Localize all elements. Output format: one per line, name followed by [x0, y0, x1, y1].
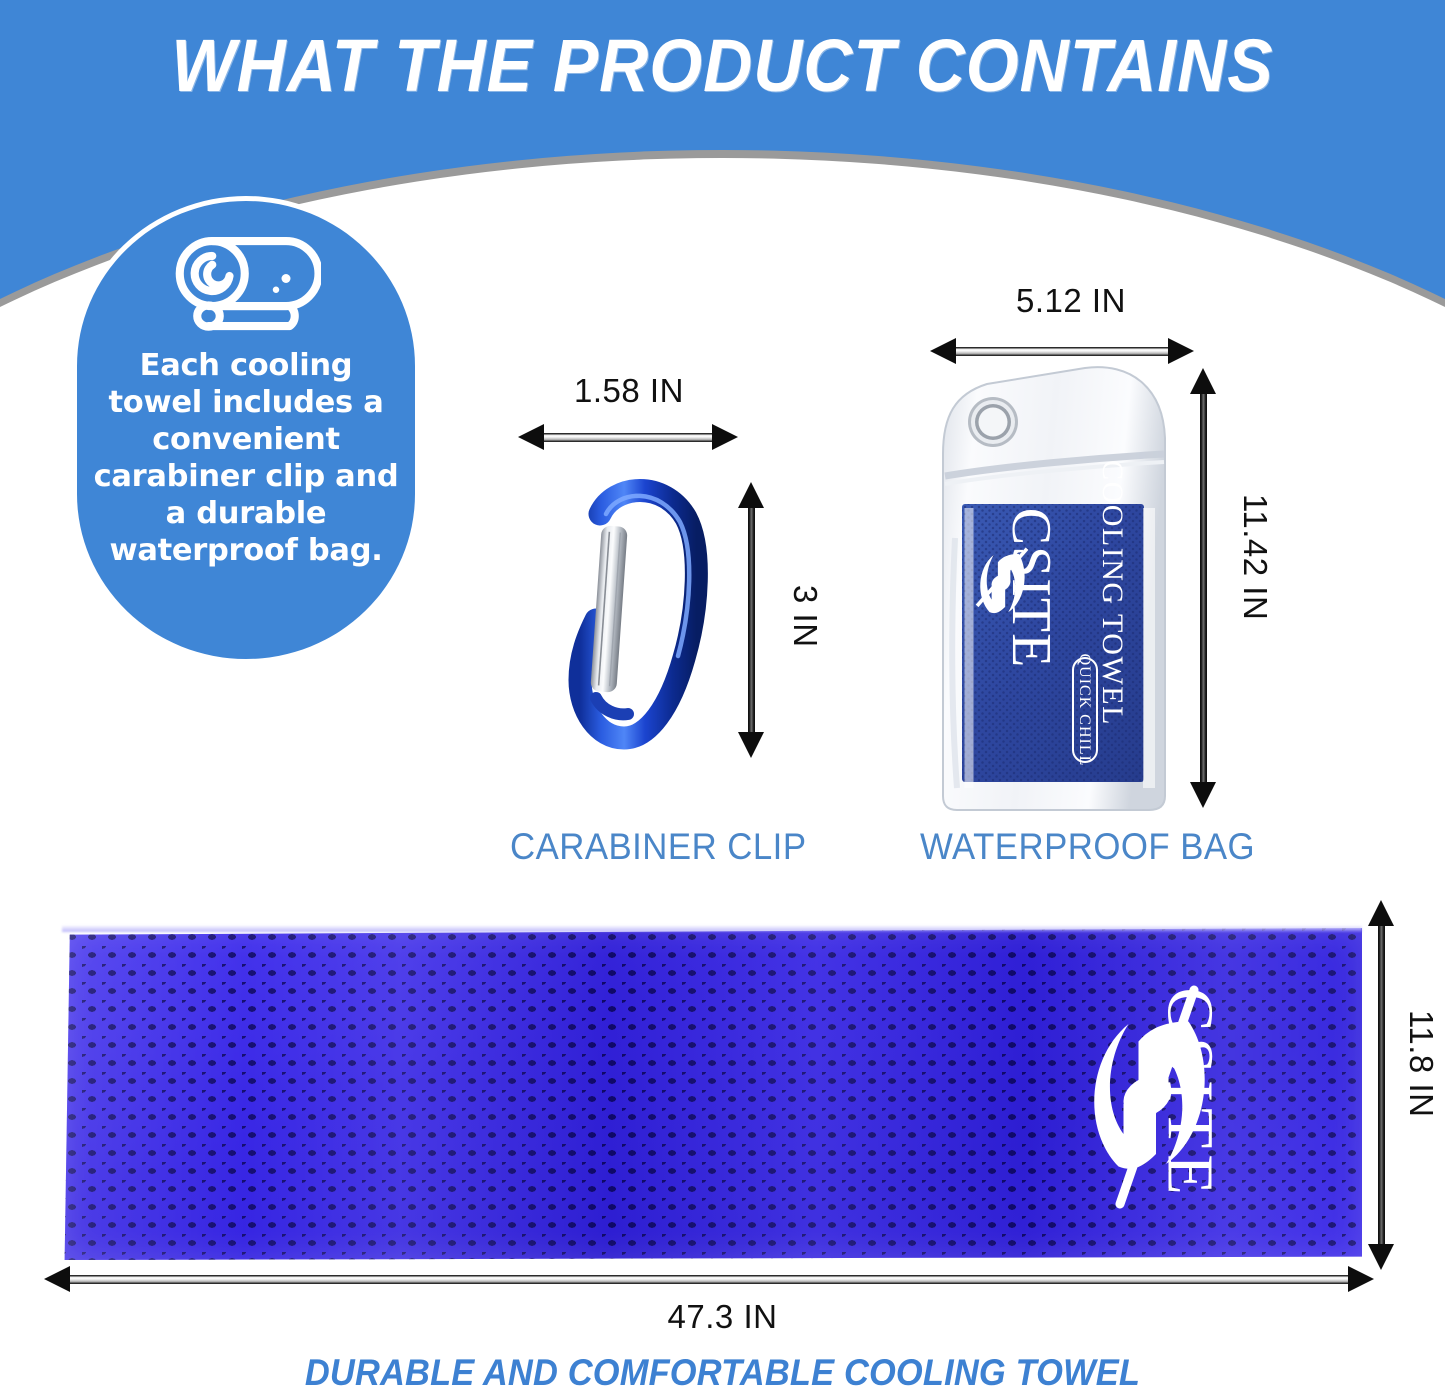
page-title: WHAT THE PRODUCT CONTAINS: [58, 24, 1387, 108]
carabiner-clip-image: [552, 470, 720, 770]
info-callout: Each cooling towel includes a convenient…: [72, 196, 420, 664]
svg-text:COOLING TOWEL: COOLING TOWEL: [1096, 460, 1129, 726]
svg-text:CSITE: CSITE: [1000, 508, 1062, 669]
bag-height-label: 11.42 IN: [1236, 494, 1274, 620]
towel-length-label: 47.3 IN: [0, 1298, 1445, 1336]
carabiner-width-label: 1.58 IN: [574, 372, 684, 410]
bag-width-label: 5.12 IN: [1016, 282, 1126, 320]
carabiner-caption: CARABINER CLIP: [510, 826, 806, 868]
carabiner-height-arrow: [738, 482, 764, 758]
carabiner-width-arrow: [518, 424, 738, 450]
infographic-page: WHAT THE PRODUCT CONTAINS Each cooling t…: [0, 0, 1445, 1399]
towel-width-arrow: [1368, 900, 1394, 1270]
towel-width-label: 11.8 IN: [1402, 1010, 1440, 1117]
bag-caption: WATERPROOF BAG: [920, 826, 1255, 868]
towel-brand-wordmark: CSITE: [1151, 987, 1227, 1200]
bag-height-arrow: [1190, 368, 1216, 808]
towel-top-edge: [62, 925, 1362, 932]
svg-text:QUICK CHILL: QUICK CHILL: [1076, 654, 1093, 767]
rolled-towel-icon: [161, 223, 331, 343]
towel-length-arrow: [44, 1266, 1374, 1292]
waterproof-bag-image: CSITE COOLING TOWEL QUICK CHILL: [935, 358, 1173, 813]
carabiner-height-label: 3 IN: [786, 585, 824, 648]
main-towel-image: CSITE: [62, 928, 1362, 1260]
info-callout-text: Each cooling towel includes a convenient…: [77, 347, 415, 569]
bottom-caption: DURABLE AND COMFORTABLE COOLING TOWEL: [51, 1352, 1395, 1394]
